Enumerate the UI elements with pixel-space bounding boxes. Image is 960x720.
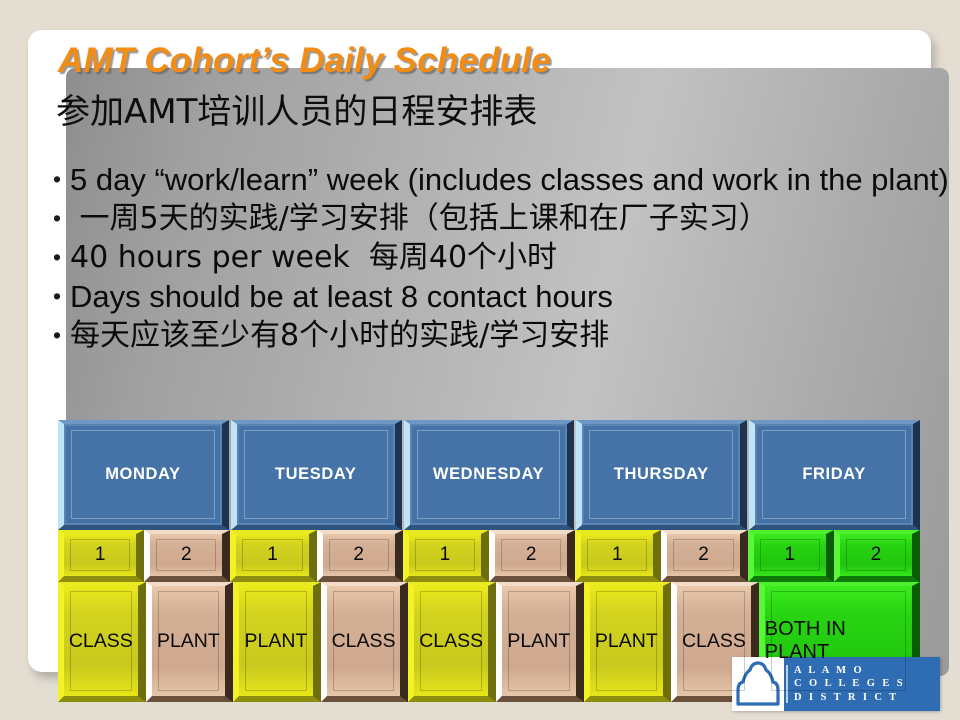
period-number: 2 <box>353 544 364 566</box>
period-cell: 1 <box>403 530 489 582</box>
period-number: 1 <box>440 544 451 566</box>
bevel-decoration <box>71 430 215 519</box>
logo-divider <box>786 665 788 703</box>
period-cell: 1 <box>748 530 834 582</box>
activity-label: PLANT <box>507 630 570 653</box>
period-cell: 2 <box>661 530 747 582</box>
bevel-decoration <box>589 430 733 519</box>
activity-cell: PLANT <box>496 582 584 702</box>
bullet-text: 每天应该至少有8个小时的实践/学习安排 <box>70 316 609 355</box>
day-header-tuesday: TUESDAY <box>231 420 402 530</box>
bullet-marker-icon: • <box>44 238 70 269</box>
period-number: 2 <box>181 544 192 566</box>
bullet-marker-icon: • <box>44 199 70 230</box>
alamo-colleges-logo: A L A M O C O L L E G E S D I S T R I C … <box>732 657 940 711</box>
bullet-text: Days should be at least 8 contact hours <box>70 277 613 316</box>
period-number: 2 <box>526 544 537 566</box>
activity-cell: PLANT <box>146 582 234 702</box>
period-cell: 2 <box>834 530 920 582</box>
bullet-text: 一周5天的实践/学习安排（包括上课和在厂子实习） <box>70 199 769 238</box>
list-item: • 一周5天的实践/学习安排（包括上课和在厂子实习） <box>44 199 960 238</box>
mission-arch-svg <box>732 657 784 711</box>
activity-label: PLANT <box>245 630 308 653</box>
bullet-text: 5 day “work/learn” week (includes classe… <box>70 160 960 199</box>
period-number: 2 <box>698 544 709 566</box>
bullet-marker-icon: • <box>44 316 70 347</box>
weekly-schedule-table: MONDAY TUESDAY WEDNESDAY THURSDAY FRIDAY <box>58 420 920 702</box>
list-item: • Days should be at least 8 contact hour… <box>44 277 960 316</box>
bevel-decoration <box>417 430 561 519</box>
mission-arch-icon <box>732 657 784 711</box>
period-number: 1 <box>784 544 795 566</box>
activity-label: CLASS <box>69 630 133 653</box>
activity-cell: CLASS <box>58 582 146 702</box>
period-cell: 1 <box>575 530 661 582</box>
activity-cell: PLANT <box>233 582 321 702</box>
period-cell: 2 <box>144 530 230 582</box>
slide-canvas: AMT Cohort’s Daily Schedule 参加AMT培训人员的日程… <box>0 0 960 720</box>
period-number: 1 <box>612 544 623 566</box>
page-subtitle-chinese: 参加AMT培训人员的日程安排表 <box>56 84 537 133</box>
logo-wordmark: A L A M O C O L L E G E S D I S T R I C … <box>794 657 905 711</box>
bullet-marker-icon: • <box>44 277 70 308</box>
period-cell: 1 <box>58 530 144 582</box>
bevel-decoration <box>762 430 906 519</box>
schedule-period-row: 1 2 1 2 1 2 1 <box>58 530 920 582</box>
period-cell: 2 <box>317 530 403 582</box>
activity-label: CLASS <box>682 630 746 653</box>
period-number: 1 <box>95 544 106 566</box>
activity-label: PLANT <box>157 630 220 653</box>
day-header-friday: FRIDAY <box>749 420 920 530</box>
activity-label: PLANT <box>595 630 658 653</box>
activity-cell: CLASS <box>408 582 496 702</box>
period-number: 1 <box>267 544 278 566</box>
bullet-list: • 5 day “work/learn” week (includes clas… <box>44 160 960 355</box>
bullet-marker-icon: • <box>44 160 70 191</box>
activity-cell: PLANT <box>584 582 672 702</box>
logo-line-colleges: C O L L E G E S <box>794 677 905 691</box>
schedule-header-row: MONDAY TUESDAY WEDNESDAY THURSDAY FRIDAY <box>58 420 920 530</box>
activity-cell: CLASS <box>321 582 409 702</box>
day-header-wednesday: WEDNESDAY <box>404 420 575 530</box>
bullet-text: 40 hours per week 每周40个小时 <box>70 238 557 277</box>
period-number: 2 <box>871 544 882 566</box>
activity-label: BOTH IN PLANT <box>765 618 912 664</box>
period-cell: 1 <box>230 530 316 582</box>
list-item: • 每天应该至少有8个小时的实践/学习安排 <box>44 316 960 355</box>
logo-line-alamo: A L A M O <box>794 664 905 678</box>
page-title: AMT Cohort’s Daily Schedule <box>58 41 551 81</box>
activity-label: CLASS <box>332 630 396 653</box>
logo-line-district: D I S T R I C T <box>794 691 905 705</box>
period-cell: 2 <box>489 530 575 582</box>
list-item: • 5 day “work/learn” week (includes clas… <box>44 160 960 199</box>
list-item: • 40 hours per week 每周40个小时 <box>44 238 960 277</box>
day-header-thursday: THURSDAY <box>576 420 747 530</box>
bevel-decoration <box>244 430 388 519</box>
day-header-monday: MONDAY <box>58 420 229 530</box>
activity-label: CLASS <box>419 630 483 653</box>
